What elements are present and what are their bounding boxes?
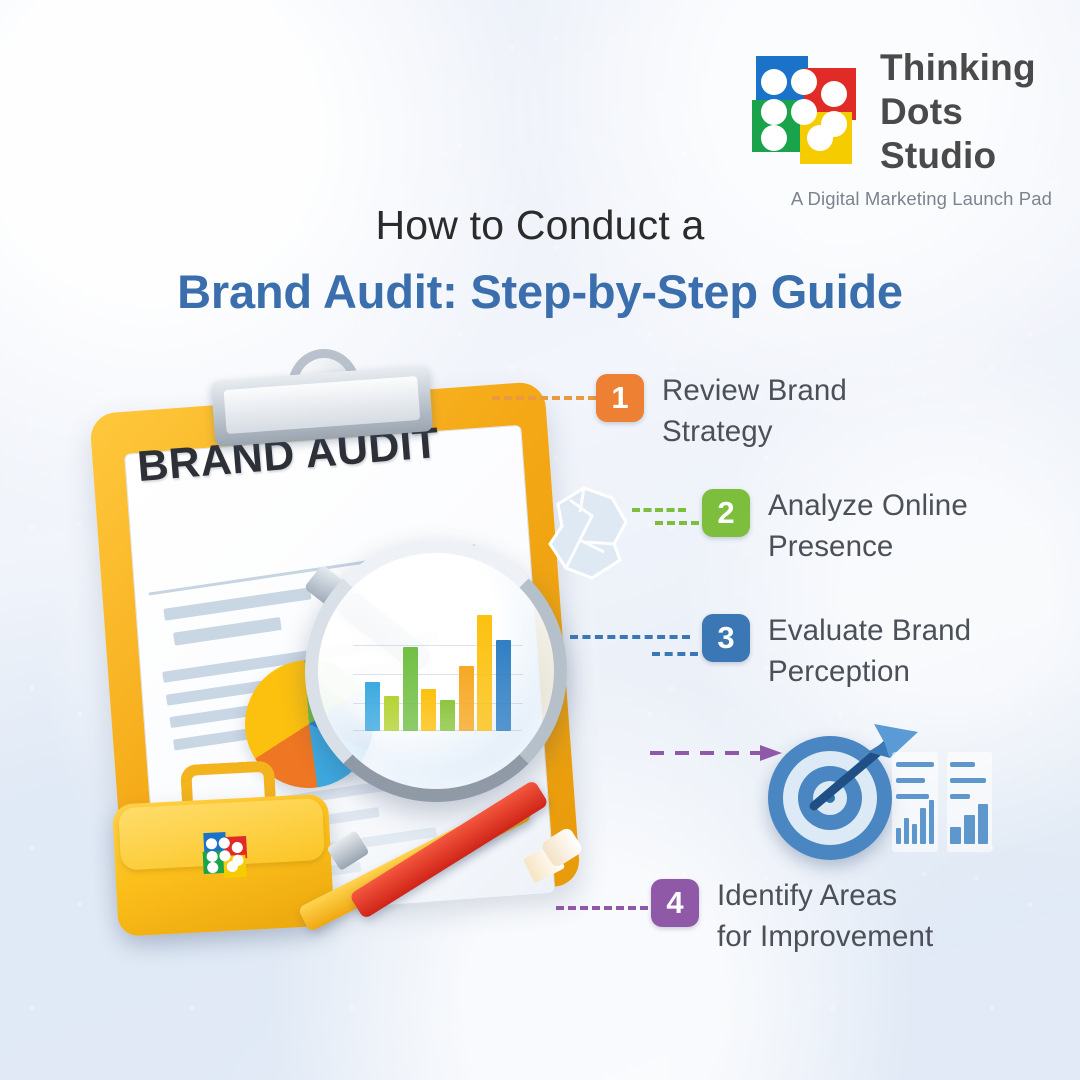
magnifier-bar bbox=[496, 640, 511, 731]
magnifier-glass bbox=[332, 567, 540, 775]
mini-card-bar bbox=[896, 828, 901, 844]
step-item-2[interactable]: 2 Analyze Online Presence bbox=[702, 489, 968, 567]
mini-report-cards bbox=[892, 752, 992, 852]
step-label-2: Analyze Online Presence bbox=[768, 485, 968, 567]
mini-card-bar bbox=[964, 815, 975, 844]
mini-card-bar bbox=[912, 824, 917, 844]
step-label-3: Evaluate Brand Perception bbox=[768, 610, 971, 692]
brand-name: Thinking Dots Studio bbox=[880, 46, 1060, 178]
step-badge-2: 2 bbox=[702, 489, 750, 537]
brand-name-line-1: Thinking bbox=[880, 46, 1060, 90]
step-badge-1: 1 bbox=[596, 374, 644, 422]
connector-dash-step-4 bbox=[556, 906, 648, 910]
magnifier-bar bbox=[421, 689, 436, 731]
magnifier-bar bbox=[403, 647, 418, 731]
infographic-canvas: Thinking Dots Studio A Digital Marketing… bbox=[0, 0, 1080, 1080]
mini-card-bar bbox=[978, 804, 989, 844]
connector-arrow-purple bbox=[648, 742, 788, 764]
mini-card-bar bbox=[950, 827, 961, 844]
mini-card-left bbox=[892, 752, 938, 852]
mini-card-bar bbox=[929, 800, 934, 844]
connector-dash-step-1 bbox=[492, 396, 596, 400]
brand-logo: Thinking Dots Studio A Digital Marketing… bbox=[752, 52, 1052, 202]
mini-card-right bbox=[947, 752, 993, 852]
crumpled-paper-icon bbox=[540, 482, 636, 582]
connector-dash-step-2a bbox=[632, 508, 686, 512]
magnifier-bar bbox=[384, 696, 399, 731]
step-label-4: Identify Areas for Improvement bbox=[717, 875, 933, 957]
connector-dash-step-2b bbox=[655, 521, 699, 525]
brand-name-line-2: Dots bbox=[880, 90, 1060, 134]
step-item-4[interactable]: 4 Identify Areas for Improvement bbox=[651, 879, 933, 957]
four-color-dots-squares-logo-icon bbox=[752, 54, 860, 166]
brand-name-line-3: Studio bbox=[880, 134, 1060, 178]
magnifier-lens bbox=[305, 540, 567, 802]
step-badge-3: 3 bbox=[702, 614, 750, 662]
page-title-line-1: How to Conduct a bbox=[0, 202, 1080, 249]
step-badge-4: 4 bbox=[651, 879, 699, 927]
magnifier-bar bbox=[440, 700, 455, 731]
connector-dash-step-3b bbox=[652, 652, 698, 656]
magnifier-bar bbox=[459, 666, 474, 731]
step-label-1: Review Brand Strategy bbox=[662, 370, 847, 452]
mini-card-bar bbox=[920, 808, 925, 844]
step-item-3[interactable]: 3 Evaluate Brand Perception bbox=[702, 614, 971, 692]
brand-audit-illustration: BRAND AUDIT bbox=[95, 345, 625, 965]
page-title-line-2: Brand Audit: Step-by-Step Guide bbox=[0, 264, 1080, 319]
magnifying-glass-icon bbox=[305, 540, 567, 802]
briefcase-logo-icon bbox=[202, 830, 250, 880]
connector-dash-step-3a bbox=[570, 635, 690, 639]
mini-card-bar bbox=[904, 818, 909, 844]
magnifier-bar-chart bbox=[365, 615, 511, 731]
step-item-1[interactable]: 1 Review Brand Strategy bbox=[596, 374, 847, 452]
magnifier-bar bbox=[477, 615, 492, 731]
magnifier-bar bbox=[365, 682, 380, 731]
